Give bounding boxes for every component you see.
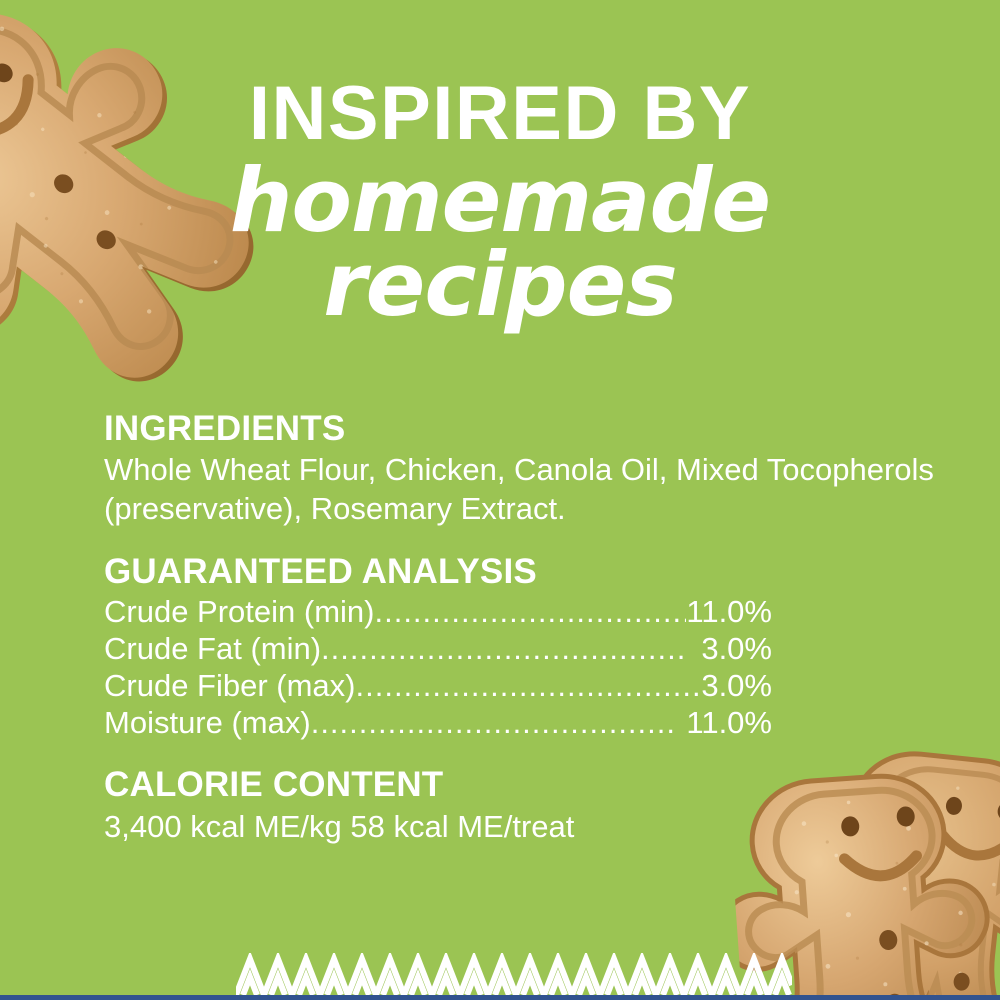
headline-kicker: INSPIRED BY — [0, 78, 1000, 150]
guaranteed-analysis-rows: Crude Protein (min) ....................… — [104, 593, 772, 741]
guaranteed-analysis-section: GUARANTEED ANALYSIS Crude Protein (min) … — [104, 552, 984, 741]
calorie-content-section: CALORIE CONTENT 3,400 kcal ME/kg 58 kcal… — [104, 765, 984, 845]
analysis-value: 3.0% — [701, 630, 772, 667]
headline-block: INSPIRED BY homemade recipes — [0, 78, 1000, 330]
analysis-row: Crude Protein (min) ....................… — [104, 593, 772, 630]
headline-script-line-2: recipes — [0, 240, 1000, 330]
calorie-content-body: 3,400 kcal ME/kg 58 kcal ME/treat — [104, 807, 984, 846]
analysis-dot-leader: ...................................... — [311, 704, 687, 741]
analysis-value: 11.0% — [686, 704, 772, 741]
bottom-blue-rule — [0, 995, 1000, 1000]
analysis-dot-leader: ...................................... — [356, 667, 702, 704]
analysis-label: Moisture (max) — [104, 704, 311, 741]
nutrition-info-block: INGREDIENTS Whole Wheat Flour, Chicken, … — [104, 409, 984, 846]
ingredients-section: INGREDIENTS Whole Wheat Flour, Chicken, … — [104, 409, 984, 528]
zigzag-chevron-border — [236, 953, 792, 995]
analysis-dot-leader: ...................................... — [374, 593, 686, 630]
analysis-label: Crude Fiber (max) — [104, 667, 356, 704]
analysis-dot-leader: ...................................... — [321, 630, 701, 667]
ingredients-heading: INGREDIENTS — [104, 409, 984, 448]
analysis-value: 11.0% — [686, 593, 772, 630]
analysis-row: Crude Fat (min) ........................… — [104, 630, 772, 667]
calorie-content-heading: CALORIE CONTENT — [104, 765, 984, 804]
analysis-value: 3.0% — [701, 667, 772, 704]
analysis-label: Crude Fat (min) — [104, 630, 321, 667]
packaging-panel: INSPIRED BY homemade recipes INGREDIENTS… — [0, 0, 1000, 1000]
analysis-label: Crude Protein (min) — [104, 593, 374, 630]
guaranteed-analysis-heading: GUARANTEED ANALYSIS — [104, 552, 984, 591]
ingredients-body: Whole Wheat Flour, Chicken, Canola Oil, … — [104, 450, 984, 528]
analysis-row: Moisture (max) .........................… — [104, 704, 772, 741]
analysis-row: Crude Fiber (max) ......................… — [104, 667, 772, 704]
